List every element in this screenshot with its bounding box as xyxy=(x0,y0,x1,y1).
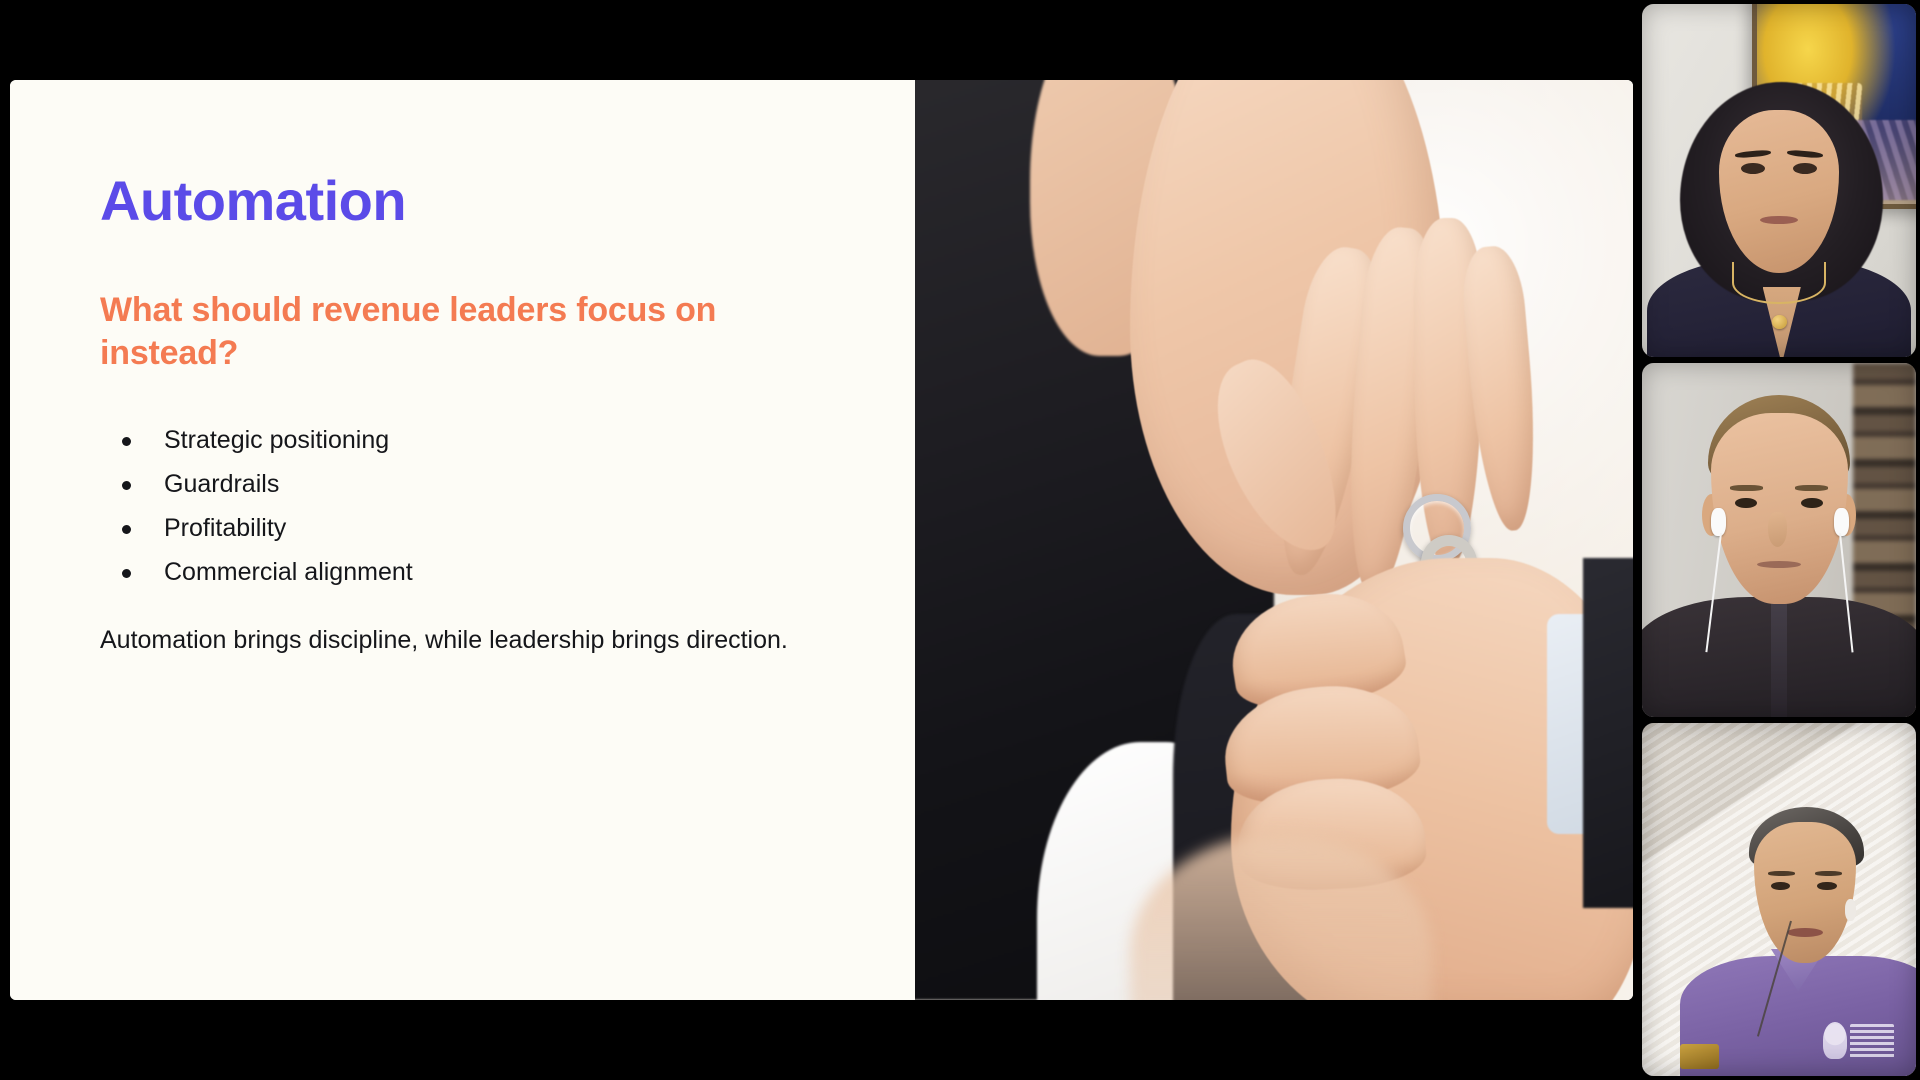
bullet-dot-icon xyxy=(122,481,131,490)
participant-tile-2[interactable] xyxy=(1642,363,1916,716)
participant-tile-1[interactable] xyxy=(1642,4,1916,357)
bullet-label: Profitability xyxy=(164,514,286,542)
necklace-chain xyxy=(1732,262,1825,304)
slide-subtitle: What should revenue leaders focus on ins… xyxy=(100,289,830,376)
eyebrow xyxy=(1730,485,1763,491)
eye xyxy=(1735,498,1757,509)
eyebrow xyxy=(1815,871,1842,876)
bullet-dot-icon xyxy=(122,525,131,534)
list-item: Commercial alignment xyxy=(122,560,915,585)
slide-photo xyxy=(915,80,1633,1000)
photo-suit-sleeve xyxy=(1583,558,1633,908)
earpiece-icon xyxy=(1845,899,1856,920)
logo-mark-icon xyxy=(1823,1022,1847,1058)
slide-title: Automation xyxy=(100,172,915,231)
mouth xyxy=(1787,928,1823,937)
participant-tile-3[interactable] xyxy=(1642,723,1916,1076)
earbud-icon xyxy=(1711,508,1726,536)
eyebrow xyxy=(1795,485,1828,491)
bullet-dot-icon xyxy=(122,569,131,578)
slide-text-pane: Automation What should revenue leaders f… xyxy=(10,80,915,1000)
participant-video-2 xyxy=(1642,363,1916,716)
logo-wordmark xyxy=(1850,1024,1894,1058)
list-item: Guardrails xyxy=(122,472,915,497)
eye xyxy=(1817,882,1836,890)
chest-logo xyxy=(1823,1019,1894,1061)
presentation-slide[interactable]: Automation What should revenue leaders f… xyxy=(10,80,1633,1000)
list-item: Strategic positioning xyxy=(122,428,915,453)
shirt-placket xyxy=(1771,597,1787,717)
bullet-label: Commercial alignment xyxy=(164,558,413,586)
bullet-label: Guardrails xyxy=(164,470,279,498)
participant-video-3 xyxy=(1642,723,1916,1076)
bullet-dot-icon xyxy=(122,437,131,446)
earbud-icon xyxy=(1834,508,1849,536)
eyebrow xyxy=(1768,871,1795,876)
eye xyxy=(1801,498,1823,509)
bullet-label: Strategic positioning xyxy=(164,426,389,454)
screen-share-region[interactable]: Automation What should revenue leaders f… xyxy=(0,0,1640,1080)
eye xyxy=(1771,882,1790,890)
slide-bullet-list: Strategic positioning Guardrails Profita… xyxy=(100,428,915,585)
meeting-stage: Automation What should revenue leaders f… xyxy=(0,0,1920,1080)
participant-rail[interactable] xyxy=(1640,0,1920,1080)
slide-body-text: Automation brings discipline, while lead… xyxy=(100,623,790,659)
list-item: Profitability xyxy=(122,516,915,541)
sleeve-patch xyxy=(1680,1044,1718,1069)
participant-video-1 xyxy=(1642,4,1916,357)
